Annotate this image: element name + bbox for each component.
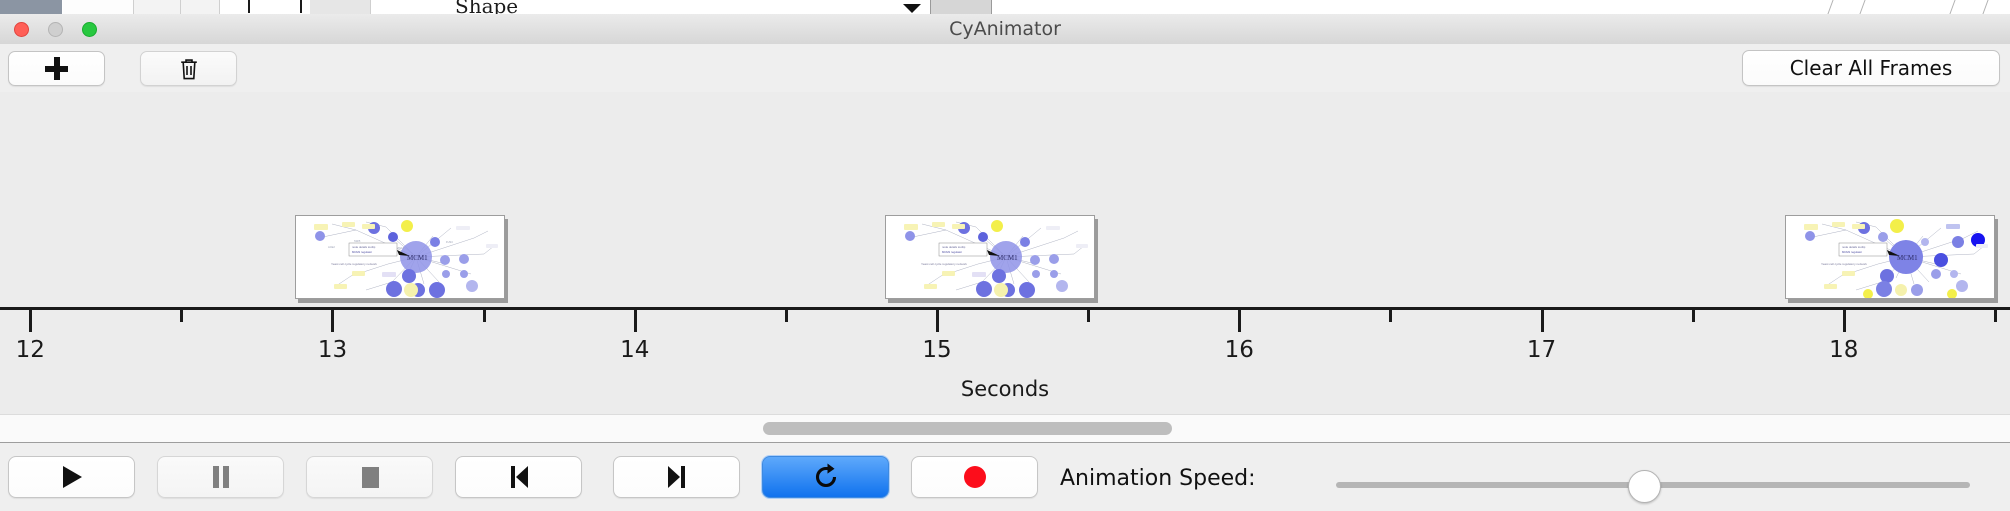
frame-thumbnail[interactable]: node details tooltip MCM1 regulator Yeas… <box>1785 215 1995 299</box>
timeline-tick-major <box>936 310 939 332</box>
frame-thumbnail[interactable]: ACE2SWI5 STE12FUS3 node details tooltip … <box>295 215 505 299</box>
timeline-tick-minor <box>180 310 183 322</box>
timeline-tick-major <box>331 310 334 332</box>
svg-text:node details tooltip: node details tooltip <box>352 245 376 249</box>
pause-button[interactable] <box>157 456 284 498</box>
background-tick <box>300 0 302 13</box>
svg-text:STE12: STE12 <box>396 246 404 250</box>
svg-text:MCM1: MCM1 <box>407 254 428 262</box>
svg-text:MCM1 regulator: MCM1 regulator <box>352 250 372 254</box>
timeline-tick-major <box>634 310 637 332</box>
network-graph-preview: ACE2SWI5 STE12FUS3 node details tooltip … <box>296 216 504 298</box>
scrollbar-thumb[interactable] <box>763 422 1172 435</box>
timeline-tick-label: 12 <box>16 337 45 363</box>
frames-toolbar: Clear All Frames <box>0 44 2010 93</box>
svg-text:Yeast cell cycle regulatory ne: Yeast cell cycle regulatory network <box>1821 262 1867 266</box>
background-window-strip: Shape <box>0 0 2010 15</box>
timeline-tick-label: 16 <box>1225 337 1254 363</box>
timeline-tick-minor <box>483 310 486 322</box>
timeline-tick-minor <box>785 310 788 322</box>
timeline-panel[interactable]: ACE2SWI5 STE12FUS3 node details tooltip … <box>0 92 2010 414</box>
timeline-tick-minor <box>1692 310 1695 322</box>
playback-controls: Animation Speed: <box>0 442 2010 511</box>
record-button[interactable] <box>911 456 1038 498</box>
animation-speed-knob[interactable] <box>1628 470 1661 503</box>
cyanimator-window: Shape CyAnimator Clear All Frames <box>0 0 2010 510</box>
svg-text:FUS3: FUS3 <box>446 240 453 244</box>
background-divider <box>1982 0 1988 14</box>
axis-title: Seconds <box>0 377 2010 401</box>
svg-text:SWI5: SWI5 <box>354 239 361 243</box>
svg-text:ACE2: ACE2 <box>328 245 335 249</box>
skip-forward-button[interactable] <box>613 456 740 498</box>
svg-text:MCM1 regulator: MCM1 regulator <box>1842 250 1862 254</box>
timeline-tick-major <box>1541 310 1544 332</box>
background-chunk <box>63 0 134 14</box>
frame-thumbnail[interactable]: node details tooltip MCM1 regulator Yeas… <box>885 215 1095 299</box>
timeline-tick-minor <box>1994 310 1997 322</box>
timeline-tick-label: 15 <box>922 337 951 363</box>
loop-icon <box>811 462 841 492</box>
timeline-tick-label: 13 <box>318 337 347 363</box>
background-tick <box>248 0 250 13</box>
timeline-tick-major <box>1238 310 1241 332</box>
background-divider <box>1859 0 1865 14</box>
stop-button[interactable] <box>306 456 433 498</box>
add-frame-button[interactable] <box>8 51 105 86</box>
stop-icon <box>358 463 382 491</box>
clear-all-frames-button[interactable]: Clear All Frames <box>1742 50 2000 86</box>
play-icon <box>59 463 85 491</box>
svg-text:Yeast cell cycle regulatory ne: Yeast cell cycle regulatory network <box>921 262 967 266</box>
svg-text:node details tooltip: node details tooltip <box>1842 245 1866 249</box>
background-toolbar-chip <box>0 0 62 14</box>
svg-text:node details tooltip: node details tooltip <box>942 245 966 249</box>
skip-forward-icon <box>665 463 689 491</box>
delete-frame-button[interactable] <box>140 51 237 86</box>
window-title: CyAnimator <box>0 14 2010 44</box>
timeline-tick-minor <box>1087 310 1090 322</box>
timeline-tick-label: 17 <box>1527 337 1556 363</box>
background-chunk <box>181 0 220 14</box>
background-divider <box>1949 0 1955 14</box>
network-graph-preview: node details tooltip MCM1 regulator Yeas… <box>886 216 1094 298</box>
loop-button[interactable] <box>762 456 889 498</box>
timeline-tick-label: 18 <box>1829 337 1858 363</box>
timeline-tick-major <box>1843 310 1846 332</box>
pause-icon <box>210 463 232 491</box>
animation-speed-label: Animation Speed: <box>1060 466 1256 491</box>
trash-icon <box>179 57 199 81</box>
background-divider <box>1827 0 1833 14</box>
background-chunk <box>134 0 181 14</box>
title-bar[interactable]: CyAnimator <box>0 14 2010 45</box>
timeline-scrollbar[interactable] <box>0 414 2010 443</box>
background-caret-icon <box>903 4 921 13</box>
timeline-tick-minor <box>1389 310 1392 322</box>
svg-text:MCM1: MCM1 <box>1897 254 1918 262</box>
background-chunk <box>310 0 371 14</box>
network-graph-preview: node details tooltip MCM1 regulator Yeas… <box>1786 216 1994 298</box>
background-window-label: Shape <box>455 0 518 15</box>
svg-text:MCM1 regulator: MCM1 regulator <box>942 250 962 254</box>
background-selection <box>930 0 992 14</box>
timeline-tick-major <box>29 310 32 332</box>
skip-back-icon <box>507 463 531 491</box>
svg-text:MCM1: MCM1 <box>997 254 1018 262</box>
play-button[interactable] <box>8 456 135 498</box>
plus-icon <box>45 57 68 80</box>
timeline-axis <box>0 307 2010 310</box>
timeline-tick-label: 14 <box>620 337 649 363</box>
skip-back-button[interactable] <box>455 456 582 498</box>
svg-text:Yeast cell cycle regulatory ne: Yeast cell cycle regulatory network <box>331 262 377 266</box>
record-icon <box>962 464 988 490</box>
